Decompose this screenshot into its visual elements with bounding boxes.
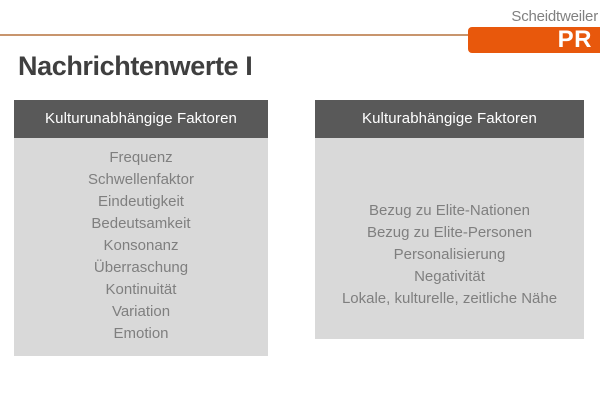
brand-badge-label: PR — [558, 27, 592, 53]
page-title: Nachrichtenwerte I — [18, 50, 252, 82]
list-item: Negativität — [315, 266, 584, 288]
slide: Scheidtweiler PR Nachrichtenwerte I Kult… — [0, 0, 600, 400]
header-divider-rule — [0, 34, 468, 36]
list-item: Variation — [14, 301, 268, 323]
list-item: Emotion — [14, 323, 268, 345]
brand-badge: PR — [468, 27, 600, 53]
list-item: Personalisierung — [315, 244, 584, 266]
column-body-culture-dependent: Bezug zu Elite-Nationen Bezug zu Elite-P… — [315, 138, 584, 339]
list-item: Bezug zu Elite-Personen — [315, 222, 584, 244]
column-culture-dependent: Kulturabhängige Faktoren Bezug zu Elite-… — [315, 100, 584, 339]
list-item: Frequenz — [14, 147, 268, 169]
list-item: Konsonanz — [14, 235, 268, 257]
column-body-culture-independent: Frequenz Schwellenfaktor Eindeutigkeit B… — [14, 138, 268, 356]
column-header-culture-independent: Kulturunabhängige Faktoren — [14, 100, 268, 138]
list-item: Bezug zu Elite-Nationen — [315, 200, 584, 222]
brand-wordmark: Scheidtweiler — [511, 8, 598, 25]
list-item: Überraschung — [14, 257, 268, 279]
list-item: Kontinuität — [14, 279, 268, 301]
list-item: Schwellenfaktor — [14, 169, 268, 191]
list-item: Eindeutigkeit — [14, 191, 268, 213]
brand-logo: Scheidtweiler PR — [460, 8, 600, 54]
list-item: Bedeutsamkeit — [14, 213, 268, 235]
column-culture-independent: Kulturunabhängige Faktoren Frequenz Schw… — [14, 100, 268, 356]
list-item: Lokale, kulturelle, zeitliche Nähe — [315, 288, 584, 310]
column-header-culture-dependent: Kulturabhängige Faktoren — [315, 100, 584, 138]
